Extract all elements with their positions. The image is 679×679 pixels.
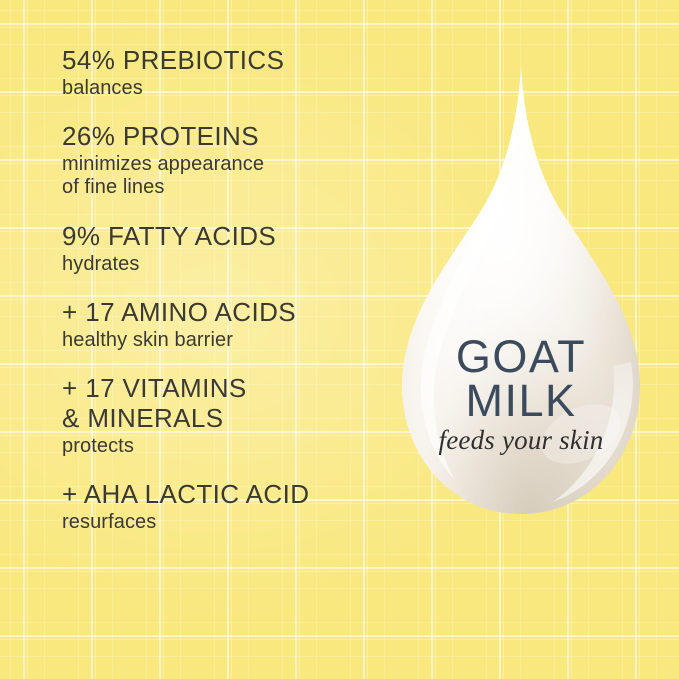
brand-name-line-1: GOAT [385, 334, 657, 379]
ingredient-title: + AHA LACTIC ACID [62, 480, 392, 510]
promo-graphic: 54% PREBIOTICS balances 26% PROTEINS min… [0, 0, 679, 679]
ingredient-title: + 17 AMINO ACIDS [62, 298, 392, 328]
goat-milk-droplet: GOAT MILK feeds your skin [385, 62, 657, 552]
ingredient-benefit: protects [62, 435, 392, 459]
ingredient-item-amino-acids: + 17 AMINO ACIDS healthy skin barrier [62, 298, 392, 352]
brand-tagline: feeds your skin [385, 427, 657, 454]
ingredient-list: 54% PREBIOTICS balances 26% PROTEINS min… [62, 46, 392, 535]
ingredient-item-prebiotics: 54% PREBIOTICS balances [62, 46, 392, 100]
ingredient-title: 9% FATTY ACIDS [62, 222, 392, 252]
milk-droplet-icon [385, 62, 657, 552]
ingredient-title: 26% PROTEINS [62, 122, 392, 152]
ingredient-benefit: hydrates [62, 253, 392, 277]
brand-name-line-2: MILK [385, 378, 657, 423]
ingredient-item-fatty-acids: 9% FATTY ACIDS hydrates [62, 222, 392, 276]
ingredient-benefit: minimizes appearance of fine lines [62, 153, 392, 200]
ingredient-benefit: healthy skin barrier [62, 329, 392, 353]
ingredient-item-aha-lactic-acid: + AHA LACTIC ACID resurfaces [62, 480, 392, 534]
ingredient-item-vitamins-minerals: + 17 VITAMINS & MINERALS protects [62, 374, 392, 458]
ingredient-item-proteins: 26% PROTEINS minimizes appearance of fin… [62, 122, 392, 200]
ingredient-title: + 17 VITAMINS & MINERALS [62, 374, 392, 433]
ingredient-title: 54% PREBIOTICS [62, 46, 392, 76]
ingredient-benefit: resurfaces [62, 511, 392, 535]
ingredient-benefit: balances [62, 77, 392, 101]
